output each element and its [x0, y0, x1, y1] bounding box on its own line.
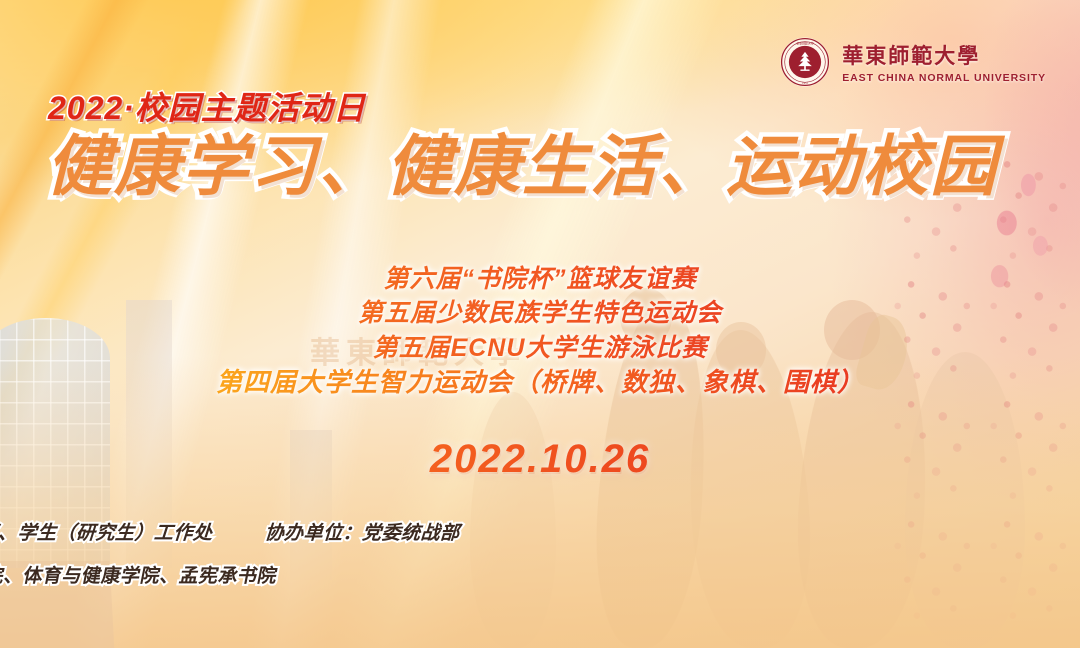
logo-name-cn: 華東師範大學 — [842, 40, 1046, 70]
ecnu-seal-icon: 華東師範大學 1951 — [779, 36, 831, 88]
organizer-row-secondary: 承办单位：大夏书院、体育与健康学院、孟宪承书院 — [0, 561, 126, 648]
event-item: 第五届少数民族学生特色运动会 — [0, 296, 1080, 330]
svg-text:華東師範大學: 華東師範大學 — [797, 40, 814, 45]
event-poster: 華東師範大學 華東師範大學 1951 華東師範大學 EAST CHINA NOR… — [0, 0, 1080, 648]
undertaker-organizer: 承办单位：大夏书院、体育与健康学院、孟宪承书院 — [0, 561, 276, 588]
logo-wordmark: 華東師範大學 EAST CHINA NORMAL UNIVERSITY — [842, 40, 1046, 84]
cohost-organizer: 协办单位：党委统战部 — [264, 518, 461, 545]
event-item: 第六届“书院杯”篮球友谊赛 — [0, 262, 1080, 296]
logo-name-en: EAST CHINA NORMAL UNIVERSITY — [842, 72, 1046, 84]
event-list: 第六届“书院杯”篮球友谊赛 第五届少数民族学生特色运动会 第五届ECNU大学生游… — [0, 262, 1080, 400]
event-item: 第四届大学生智力运动会（桥牌、数独、象棋、围棋） — [0, 365, 1080, 401]
svg-text:1951: 1951 — [802, 81, 808, 85]
university-logo: 華東師範大學 1951 華東師範大學 EAST CHINA NORMAL UNI… — [779, 36, 1046, 88]
poster-headline: 健康学习、健康生活、运动校园 — [46, 133, 998, 199]
event-date: 2022.10.26 — [0, 437, 1080, 482]
poster-kicker: 2022·校园主题活动日 — [48, 83, 366, 129]
host-organizer: 主办单位：党委学生（研究生）工作部、学生（研究生）工作处 — [0, 518, 214, 545]
event-item: 第五届ECNU大学生游泳比赛 — [0, 331, 1080, 365]
runner-silhouette — [470, 392, 556, 648]
